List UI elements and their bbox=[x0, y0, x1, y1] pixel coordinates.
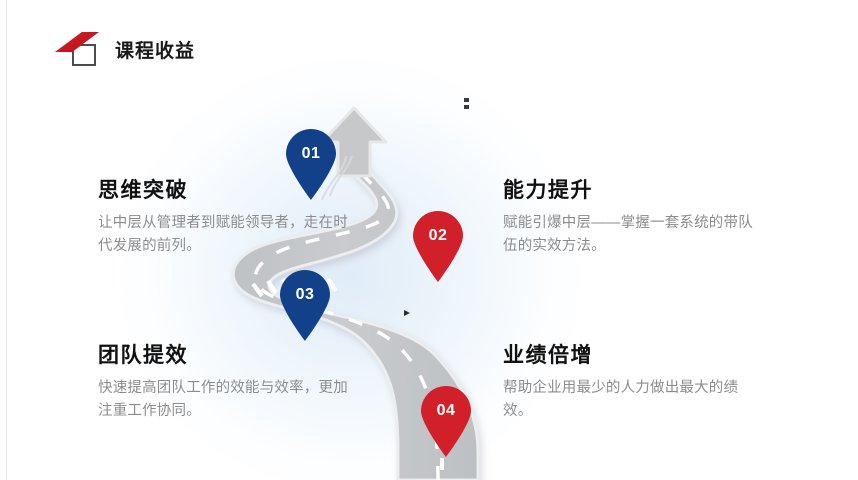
company-logo-icon bbox=[55, 28, 103, 70]
benefit-body-1: 让中层从管理者到赋能领导者，走在时代发展的前列。 bbox=[98, 212, 348, 257]
map-pin-label-03: 03 bbox=[276, 286, 334, 304]
map-pin-03[interactable]: 03 bbox=[276, 268, 334, 342]
map-pin-01[interactable]: 01 bbox=[282, 127, 340, 201]
slide-canvas: 课程收益 思维突破 让中层从管理者到赋能领导者，走在时代发展的前列。 能力提升 … bbox=[0, 0, 858, 480]
benefit-body-3: 快速提高团队工作的效能与效率，更加注重工作协同。 bbox=[98, 377, 348, 422]
map-pin-label-04: 04 bbox=[417, 402, 475, 420]
road-vehicle-marker bbox=[404, 310, 410, 316]
benefit-title-2: 能力提升 bbox=[503, 178, 753, 203]
decorative-tick-marks bbox=[464, 98, 472, 114]
benefit-block-4: 业绩倍增 帮助企业用最少的人力做出最大的绩效。 bbox=[503, 343, 753, 422]
map-pin-icon bbox=[276, 268, 334, 342]
benefit-body-4: 帮助企业用最少的人力做出最大的绩效。 bbox=[503, 377, 753, 422]
slide-header: 课程收益 bbox=[55, 26, 195, 72]
slide-left-border bbox=[6, 0, 7, 480]
tick-mark-upper bbox=[464, 98, 469, 102]
map-pin-icon bbox=[282, 127, 340, 201]
benefit-title-4: 业绩倍增 bbox=[503, 343, 753, 368]
map-pin-04[interactable]: 04 bbox=[417, 384, 475, 458]
map-pin-label-02: 02 bbox=[409, 227, 467, 245]
page-title: 课程收益 bbox=[115, 36, 195, 63]
map-pin-icon bbox=[409, 209, 467, 283]
benefit-block-2: 能力提升 赋能引爆中层——掌握一套系统的带队伍的实效方法。 bbox=[503, 178, 753, 257]
map-pin-label-01: 01 bbox=[282, 145, 340, 163]
benefit-block-3: 团队提效 快速提高团队工作的效能与效率，更加注重工作协同。 bbox=[98, 343, 348, 422]
map-pin-icon bbox=[417, 384, 475, 458]
tick-mark-lower bbox=[464, 105, 469, 109]
benefit-title-3: 团队提效 bbox=[98, 343, 348, 368]
map-pin-02[interactable]: 02 bbox=[409, 209, 467, 283]
benefit-body-2: 赋能引爆中层——掌握一套系统的带队伍的实效方法。 bbox=[503, 212, 753, 257]
